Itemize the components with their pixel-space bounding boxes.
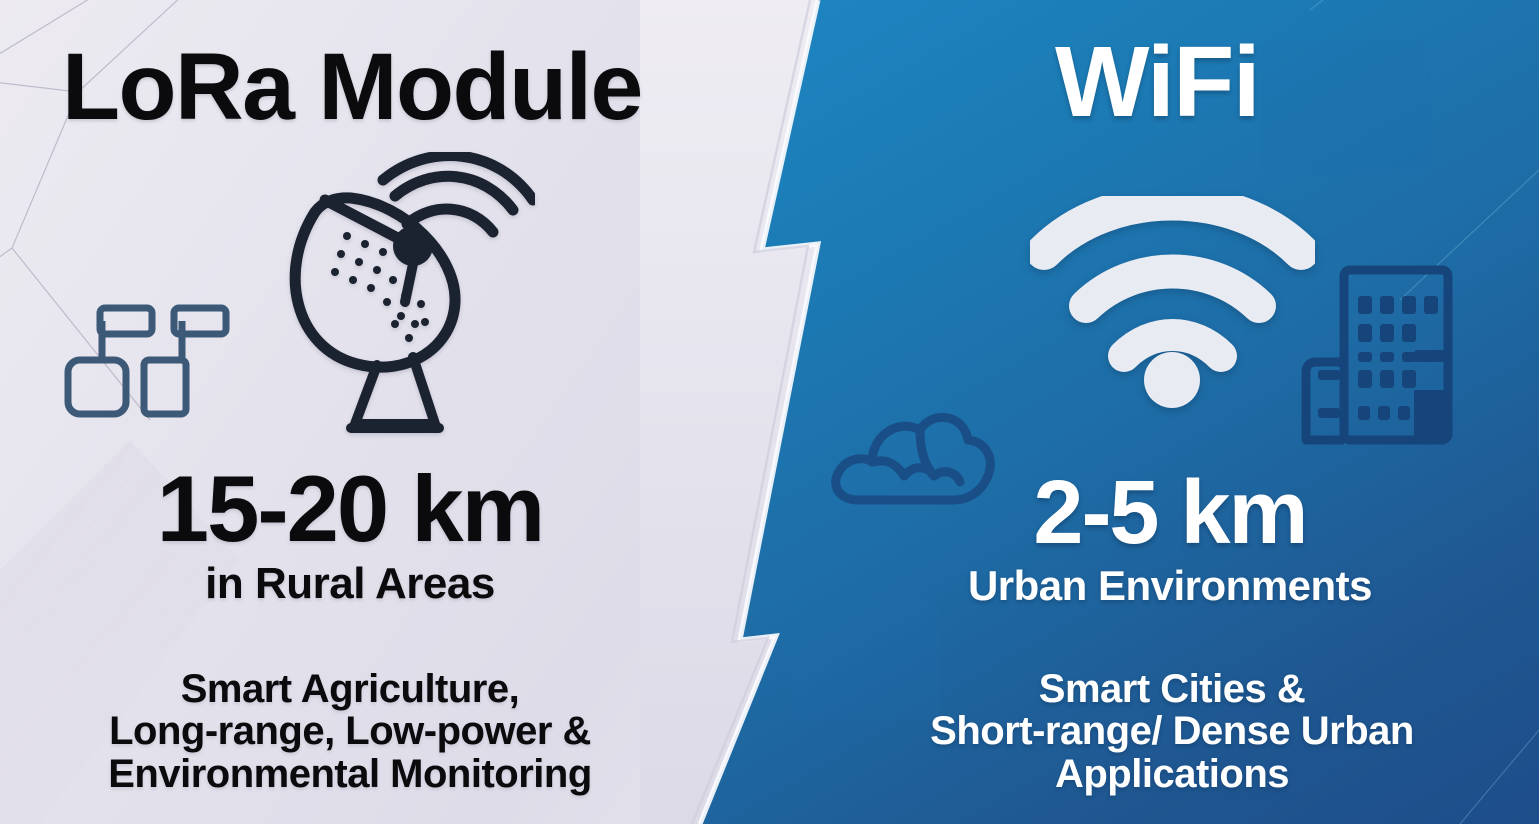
lora-range-value: 15-20 km <box>0 462 700 556</box>
network-nodes-icon <box>62 292 242 422</box>
wifi-range-context: Urban Environments <box>880 565 1460 607</box>
wifi-signal-icon <box>1030 196 1315 412</box>
lora-range-context: in Rural Areas <box>0 562 700 606</box>
lora-description: Smart Agriculture, Long-range, Low-power… <box>0 668 700 795</box>
city-buildings-icon <box>1298 262 1486 448</box>
wifi-title: WiFi <box>1055 32 1259 132</box>
wifi-range-value: 2-5 km <box>880 468 1460 558</box>
infographic-canvas: LoRa Module 15-20 km in Rural Areas Smar… <box>0 0 1539 824</box>
satellite-dish-icon <box>285 152 535 444</box>
lora-title: LoRa Module <box>62 40 642 135</box>
wifi-description: Smart Cities & Short-range/ Dense Urban … <box>872 668 1472 795</box>
